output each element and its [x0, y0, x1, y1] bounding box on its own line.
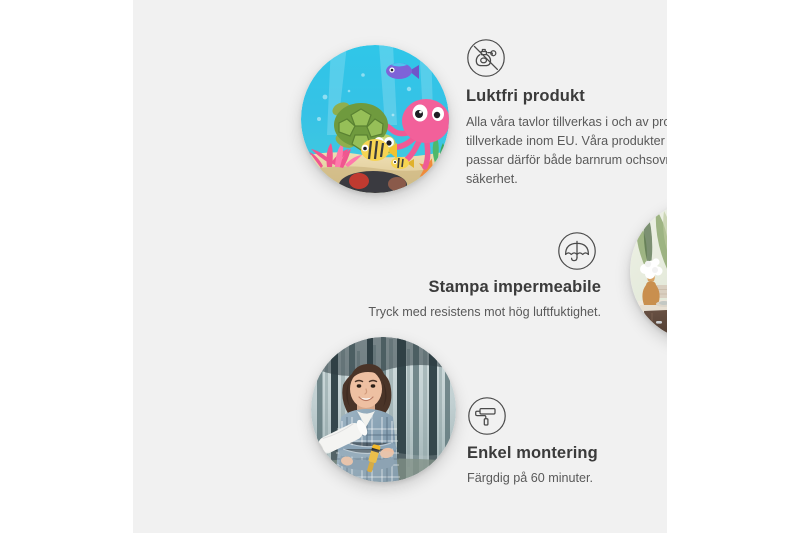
feature-title: Enkel montering [467, 444, 667, 464]
feature-easy-installation: Enkel montering Färgdig på 60 minuter. [467, 396, 667, 488]
feature-body: Tryck med resistens mot hög luftfuktighe… [333, 303, 601, 322]
feature-title: Stampa impermeabile [333, 278, 601, 298]
feature-title: Luktfri produkt [466, 87, 667, 107]
umbrella-icon [557, 231, 597, 271]
product-feature-infographic: Luktfri produkt Alla våra tavlor tillver… [0, 0, 800, 533]
feature-body: Alla våra tavlor tillverkas i och av pro… [466, 113, 667, 190]
feature-waterproof: Stampa impermeabile Tryck med resistens … [333, 231, 601, 322]
content-panel: Luktfri produkt Alla våra tavlor tillver… [133, 0, 667, 533]
image-bathroom-interior [630, 201, 667, 341]
no-fragrance-icon [466, 38, 506, 78]
image-underwater-cartoon-scene [301, 45, 449, 193]
image-woman-with-wallpaper-roll [311, 337, 456, 482]
feature-body: Färgdig på 60 minuter. [467, 469, 667, 488]
paint-roller-icon [467, 396, 507, 436]
feature-odourless: Luktfri produkt Alla våra tavlor tillver… [466, 38, 667, 189]
